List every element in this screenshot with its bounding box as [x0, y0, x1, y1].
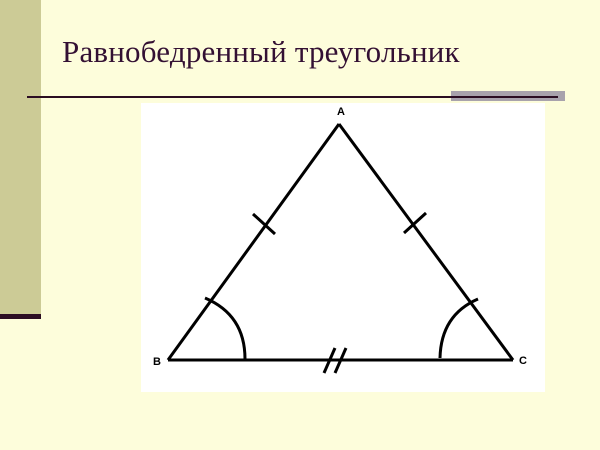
- isosceles-triangle-figure: A B C: [141, 103, 545, 392]
- angle-arc-C: [440, 299, 478, 358]
- slide-canvas: Равнобедренный треугольник A B C: [0, 0, 600, 450]
- figure-panel: A B C: [141, 103, 545, 392]
- triangle-side-AB: [168, 124, 339, 360]
- triangle-side-AC: [339, 124, 513, 360]
- sidebar-decoration-band: [0, 0, 41, 314]
- angle-arc-B: [205, 298, 245, 359]
- header-divider-rule: [27, 96, 558, 98]
- vertex-label-B: B: [153, 356, 161, 368]
- vertex-label-A: A: [337, 106, 345, 118]
- page-title: Равнобедренный треугольник: [62, 33, 532, 71]
- sidebar-underline-bar: [0, 314, 41, 319]
- vertex-label-C: C: [519, 355, 527, 367]
